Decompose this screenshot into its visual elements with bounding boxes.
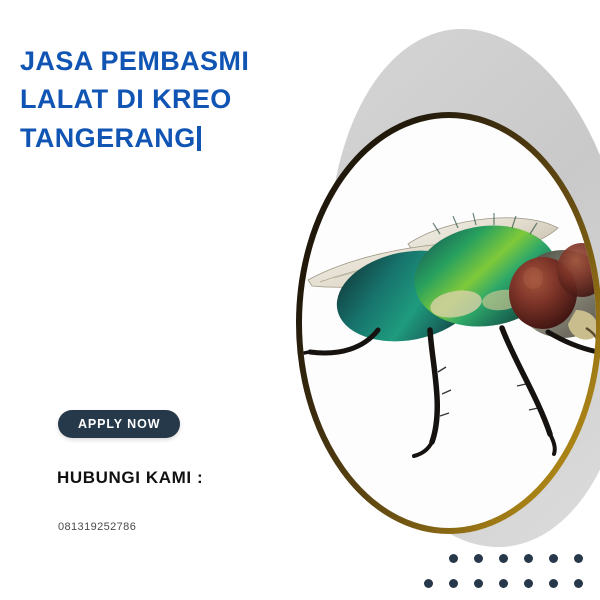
grid-dot — [424, 579, 433, 588]
grid-dot — [449, 554, 458, 563]
grid-dot — [499, 579, 508, 588]
grid-dot — [549, 579, 558, 588]
dot-row-top — [449, 554, 583, 563]
grid-dot — [574, 554, 583, 563]
grid-dot — [549, 554, 558, 563]
contact-label: HUBUNGI KAMI : — [57, 468, 203, 488]
fly-illustration — [302, 158, 596, 488]
grid-dot — [499, 554, 508, 563]
page-title: JASA PEMBASMI LALAT DI KREO TANGERANG — [20, 42, 320, 157]
grid-dot — [574, 579, 583, 588]
text-caret-icon — [197, 126, 201, 151]
contact-phone-number[interactable]: 081319252786 — [58, 521, 136, 533]
grid-dot — [474, 579, 483, 588]
dot-grid-decoration — [424, 554, 600, 600]
dot-row-bottom — [424, 579, 583, 588]
fly-photo — [302, 118, 596, 528]
headline-text: JASA PEMBASMI LALAT DI KREO TANGERANG — [20, 46, 249, 153]
grid-dot — [474, 554, 483, 563]
grid-dot — [524, 554, 533, 563]
grid-dot — [524, 579, 533, 588]
apply-now-button[interactable]: APPLY NOW — [58, 410, 180, 438]
poster-canvas: JASA PEMBASMI LALAT DI KREO TANGERANG AP… — [0, 0, 600, 600]
grid-dot — [449, 579, 458, 588]
